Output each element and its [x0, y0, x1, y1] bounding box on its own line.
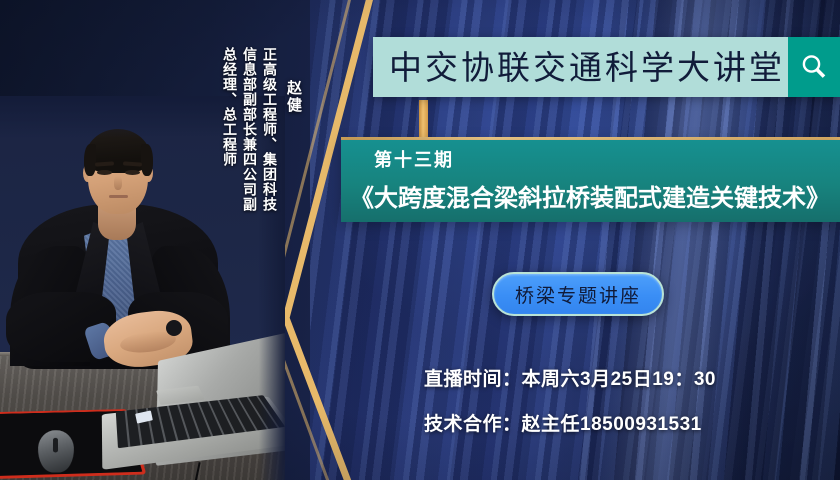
hair-side-right: [141, 144, 153, 176]
episode-band: 第十三期 《大跨度混合梁斜拉桥装配式建造关键技术》: [341, 140, 840, 222]
title-bar: 中交协联交通科学大讲堂: [373, 37, 840, 97]
speaker-name: 赵健: [283, 80, 304, 114]
eye-left: [97, 170, 112, 175]
nose: [114, 176, 122, 190]
wristwatch: [166, 320, 182, 336]
technical-contact: 技术合作：赵主任18500931531: [424, 409, 702, 436]
speaker-title-column-1: 正高级工程师、集团科技: [260, 47, 280, 212]
broadcast-time: 直播时间：本周六3月25日19：30: [424, 364, 716, 391]
topic-pill-label: 桥梁专题讲座: [515, 281, 641, 308]
speaker-title-column-2: 信息部副部长兼四公司副: [240, 47, 260, 212]
topic-pill-button[interactable]: 桥梁专题讲座: [492, 272, 664, 316]
search-button[interactable]: [788, 37, 840, 97]
speaker-title-column-3: 总经理、总工程师: [220, 47, 240, 167]
webinar-poster: 正高级工程师、集团科技 信息部副部长兼四公司副 总经理、总工程师 赵健 中交协联…: [0, 0, 840, 480]
episode-topic: 《大跨度混合梁斜拉桥装配式建造关键技术》: [350, 178, 830, 213]
speaker-credentials: 正高级工程师、集团科技 信息部副部长兼四公司副 总经理、总工程师 赵健: [182, 0, 302, 480]
mouth: [109, 195, 128, 198]
episode-number: 第十三期: [374, 146, 454, 172]
hair-side-left: [84, 144, 96, 176]
page-title: 中交协联交通科学大讲堂: [373, 51, 788, 84]
mouse-scroll-wheel: [53, 438, 58, 453]
eye-right: [125, 170, 140, 175]
search-icon: [799, 52, 829, 82]
